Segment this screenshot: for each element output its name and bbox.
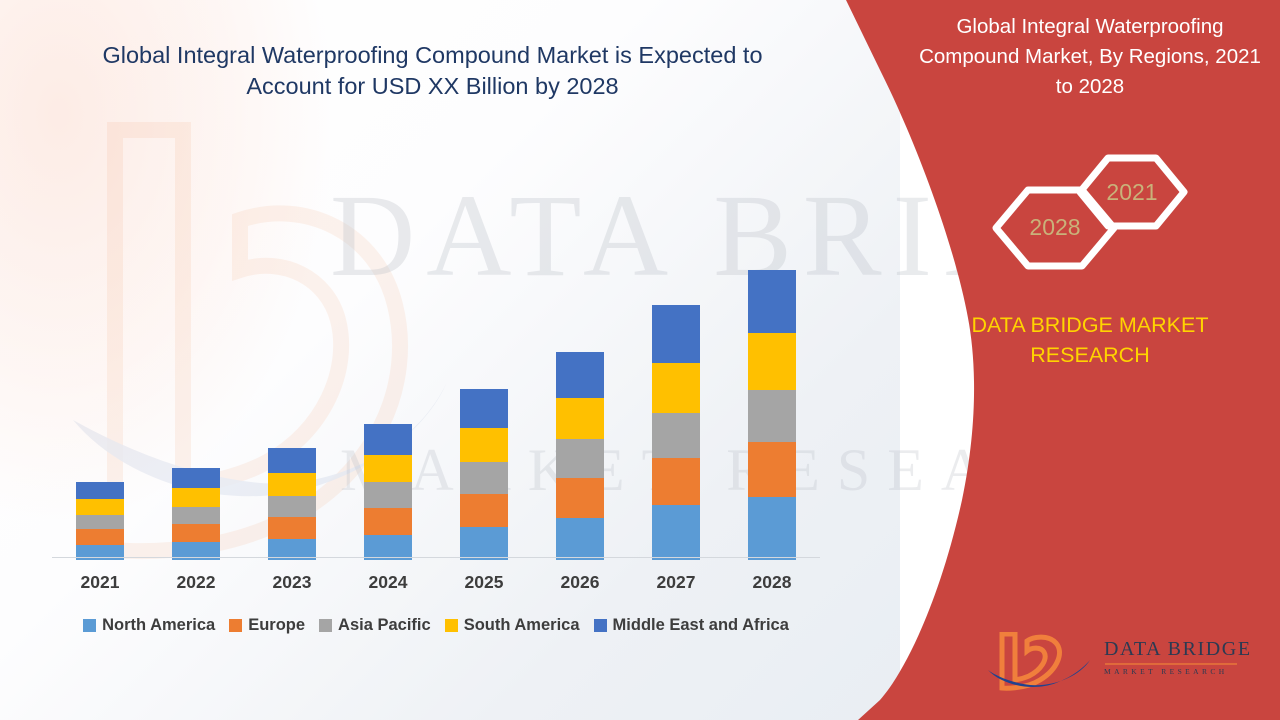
company-logo-tagline: MARKET RESEARCH [1104, 667, 1244, 676]
bar-segment [748, 497, 796, 560]
x-tick-label-2025: 2025 [436, 572, 532, 593]
bar-segment [556, 478, 604, 518]
bar-segment [172, 507, 220, 524]
legend-label: North America [102, 616, 215, 635]
bar-segment [652, 363, 700, 413]
bar-segment [652, 458, 700, 505]
legend-label: Middle East and Africa [613, 616, 789, 635]
bar-segment [748, 270, 796, 333]
company-logo-divider [1105, 663, 1237, 665]
company-logo-text: DATA BRIDGE MARKET RESEARCH [1104, 638, 1244, 676]
x-tick-label-2022: 2022 [148, 572, 244, 593]
legend-label: South America [464, 616, 580, 635]
bar-column-2023 [268, 448, 316, 560]
bar-segment [460, 428, 508, 462]
legend-item[interactable]: Europe [229, 616, 305, 635]
x-tick-label-2023: 2023 [244, 572, 340, 593]
bar-segment [652, 505, 700, 560]
bar-segment [460, 527, 508, 560]
bar-segment [76, 499, 124, 515]
bar-column-2022 [172, 468, 220, 560]
bar-segment [556, 398, 604, 439]
panel-title: Global Integral Waterproofing Compound M… [912, 12, 1268, 102]
x-tick-label-2021: 2021 [52, 572, 148, 593]
hexagon-badges: 2028 2021 [970, 140, 1210, 290]
x-tick-label-2027: 2027 [628, 572, 724, 593]
bar-segment [652, 305, 700, 363]
company-logo: DATA BRIDGE MARKET RESEARCH [986, 632, 1236, 700]
x-axis-tick-labels: 20212022202320242025202620272028 [52, 572, 820, 602]
legend-label: Asia Pacific [338, 616, 431, 635]
chart-title: Global Integral Waterproofing Compound M… [60, 40, 805, 102]
x-axis-line [52, 557, 820, 558]
red-panel-content: Global Integral Waterproofing Compound M… [900, 0, 1280, 720]
bar-segment [364, 508, 412, 535]
brand-name: DATA BRIDGE MARKET RESEARCH [920, 310, 1260, 370]
legend-swatch-icon [594, 619, 607, 632]
bar-column-2021 [76, 482, 124, 560]
bar-segment [172, 468, 220, 488]
bar-segment [364, 455, 412, 482]
legend-swatch-icon [229, 619, 242, 632]
x-tick-label-2026: 2026 [532, 572, 628, 593]
bar-segment [268, 517, 316, 539]
bar-column-2026 [556, 352, 604, 560]
bar-segment [748, 333, 796, 390]
chart-panel: DATA BRIDGE MARKET RESEARCH Global Integ… [0, 0, 900, 720]
legend-item[interactable]: South America [445, 616, 580, 635]
bar-segment [172, 488, 220, 507]
x-tick-label-2028: 2028 [724, 572, 820, 593]
bar-column-2028 [748, 270, 796, 560]
hexagon-front-label: 2021 [1080, 179, 1184, 206]
bar-segment [556, 518, 604, 560]
bar-segment [556, 352, 604, 398]
hexagon-back-label: 2028 [996, 214, 1114, 241]
bar-column-2027 [652, 305, 700, 560]
bar-column-2025 [460, 389, 508, 560]
company-logo-mark-icon [986, 632, 1098, 694]
bar-segment [172, 524, 220, 542]
company-logo-name: DATA BRIDGE [1104, 638, 1244, 661]
bar-column-2024 [364, 424, 412, 560]
legend-swatch-icon [319, 619, 332, 632]
bar-segment [556, 439, 604, 478]
bar-segment [748, 390, 796, 442]
legend-label: Europe [248, 616, 305, 635]
bar-segment [748, 442, 796, 497]
bar-segment [652, 413, 700, 458]
bar-segment [76, 515, 124, 529]
bar-segment [268, 448, 316, 473]
legend-swatch-icon [83, 619, 96, 632]
bar-segment [76, 482, 124, 499]
bar-segment [460, 494, 508, 527]
plot-area [52, 150, 820, 560]
bar-segment [268, 496, 316, 517]
legend-swatch-icon [445, 619, 458, 632]
bar-segment [460, 462, 508, 494]
infographic-slide: DATA BRIDGE MARKET RESEARCH Global Integ… [0, 0, 1280, 720]
legend-item[interactable]: Middle East and Africa [594, 616, 789, 635]
x-tick-label-2024: 2024 [340, 572, 436, 593]
chart-legend: North AmericaEuropeAsia PacificSouth Ame… [52, 616, 820, 635]
legend-item[interactable]: Asia Pacific [319, 616, 431, 635]
bar-segment [268, 473, 316, 496]
bar-segment [460, 389, 508, 428]
bar-segment [76, 529, 124, 545]
bar-segment [364, 482, 412, 508]
bar-segment [364, 424, 412, 455]
legend-item[interactable]: North America [83, 616, 215, 635]
